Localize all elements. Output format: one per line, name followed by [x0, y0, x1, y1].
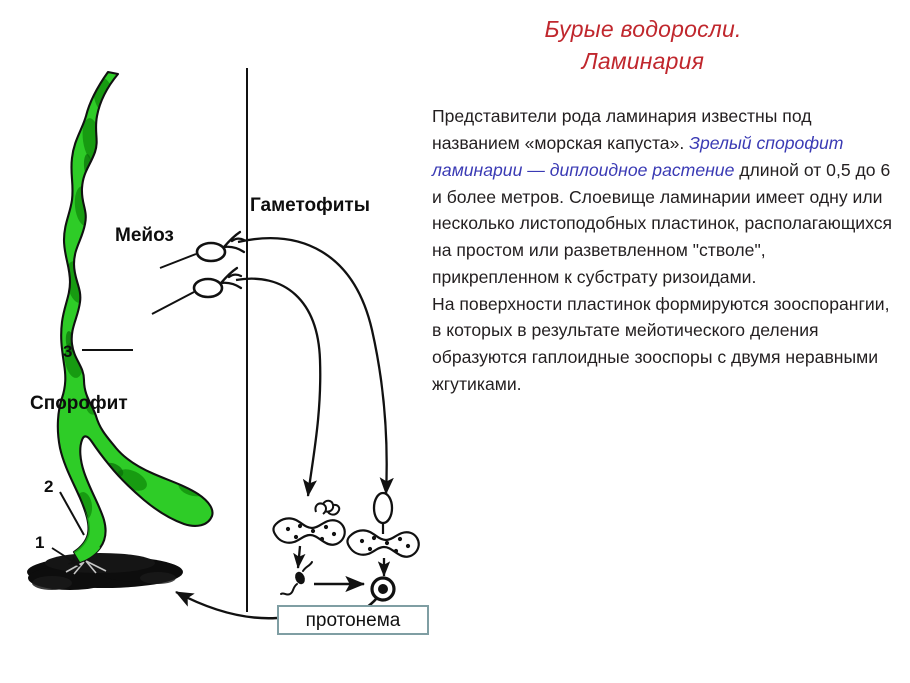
sperm-cell — [281, 562, 312, 595]
text-column: Бурые водоросли. Ламинария Представители… — [432, 14, 894, 534]
paragraph-2: На поверхности пластинок формируются зоо… — [432, 291, 894, 398]
body-text: Представители рода ламинария известны по… — [432, 103, 894, 397]
laminaria-life-cycle-diagram: Мейоз Гаметофиты Спорофит 1 2 3 протонем… — [0, 0, 432, 683]
sporophyte-thallus — [40, 60, 240, 580]
callout-number-3: 3 — [63, 342, 72, 362]
female-gametophyte — [347, 493, 418, 557]
arrow-zoospore-to-male-gametophyte — [236, 279, 320, 496]
callout-number-2: 2 — [44, 477, 53, 497]
arrow-protonema-to-sporophyte — [176, 592, 277, 618]
arrow-to-sperm — [298, 546, 300, 568]
slide-title-line-1: Бурые водоросли. — [432, 14, 854, 46]
zoospore-upper — [197, 232, 244, 261]
protonema-label-text: протонема — [306, 611, 401, 630]
slide-title-line-2: Ламинария — [432, 46, 854, 78]
label-gametophytes: Гаметофиты — [250, 195, 370, 217]
male-gametophyte — [273, 501, 344, 545]
label-sporophyte: Спорофит — [30, 393, 128, 415]
slide-root: Мейоз Гаметофиты Спорофит 1 2 3 протонем… — [0, 0, 910, 683]
zoospore-lower — [194, 268, 241, 297]
label-meiosis: Мейоз — [115, 225, 174, 247]
callout-number-1: 1 — [35, 533, 44, 553]
paragraph-1: Представители рода ламинария известны по… — [432, 103, 894, 290]
zygote — [372, 578, 394, 600]
substrate-holdfast — [27, 553, 183, 590]
protonema-label-box: протонема — [277, 605, 429, 635]
slide-title: Бурые водоросли. Ламинария — [432, 14, 894, 77]
zoospore-leader-lines — [152, 254, 196, 314]
arrow-zoospore-to-female-gametophyte — [238, 238, 387, 494]
